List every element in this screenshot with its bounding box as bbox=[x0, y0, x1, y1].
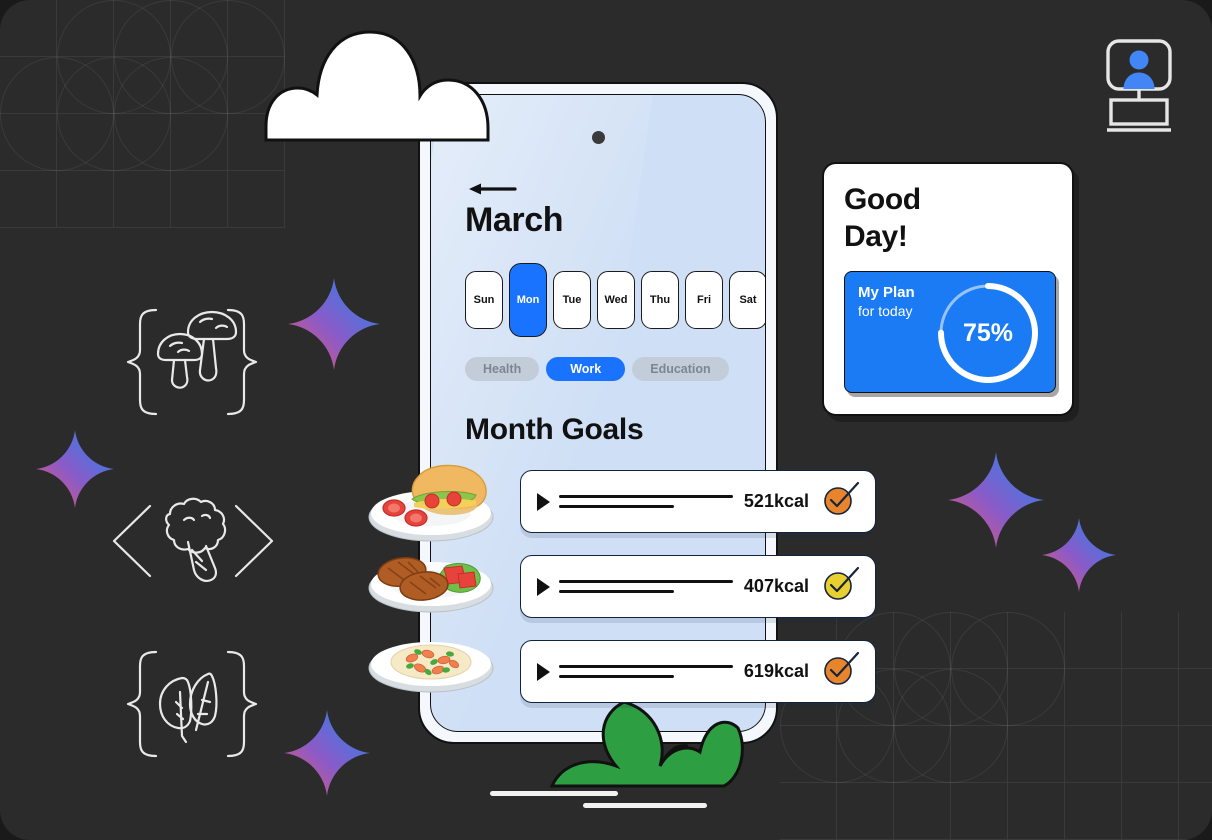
calorie-value: 407kcal bbox=[744, 576, 809, 597]
category-tabs[interactable]: HealthWorkEducation bbox=[465, 357, 729, 381]
grid-cell bbox=[951, 669, 1008, 726]
play-triangle-icon[interactable] bbox=[537, 578, 550, 596]
day-chip-label: Fri bbox=[697, 294, 711, 306]
grid-cell bbox=[1122, 783, 1179, 840]
day-chip-wed[interactable]: Wed bbox=[597, 271, 635, 329]
grid-circle bbox=[114, 57, 228, 171]
meal-placeholder-bars bbox=[559, 580, 744, 592]
grid-circle bbox=[0, 57, 114, 171]
tab-health[interactable]: Health bbox=[465, 357, 539, 381]
grid-cell bbox=[837, 726, 894, 783]
grid-cell bbox=[57, 57, 114, 114]
deco-line bbox=[583, 803, 707, 808]
day-selector[interactable]: SunMonTueWedThuFriSat bbox=[465, 263, 766, 337]
sparkle-icon bbox=[284, 710, 370, 801]
table-row[interactable]: 619kcal bbox=[520, 640, 876, 703]
grid-cell bbox=[0, 171, 57, 228]
grid-cell bbox=[0, 0, 57, 57]
grid-circle bbox=[894, 669, 1008, 783]
poster-canvas: March SunMonTueWedThuFriSat HealthWorkEd… bbox=[0, 0, 1212, 840]
day-chip-sat[interactable]: Sat bbox=[729, 271, 766, 329]
section-title-month-goals: Month Goals bbox=[465, 413, 643, 447]
presentation-user-icon[interactable] bbox=[1105, 38, 1173, 139]
sparkle-icon bbox=[288, 278, 380, 375]
grid-cell bbox=[57, 171, 114, 228]
grid-cell bbox=[894, 726, 951, 783]
grid-cell bbox=[171, 114, 228, 171]
day-chip-label: Wed bbox=[604, 294, 627, 306]
grid-cell bbox=[894, 612, 951, 669]
grid-cell bbox=[1008, 726, 1065, 783]
tab-label: Health bbox=[483, 362, 521, 376]
grid-cell bbox=[1122, 612, 1179, 669]
grid-cell bbox=[0, 57, 57, 114]
plan-label: My Plan for today bbox=[858, 284, 915, 320]
plan-title: My Plan bbox=[858, 284, 915, 301]
good-day-card: Good Day! My Plan for today 75% bbox=[822, 162, 1074, 416]
mushrooms-icon bbox=[112, 292, 272, 437]
day-chip-label: Thu bbox=[650, 294, 670, 306]
grid-cell bbox=[780, 726, 837, 783]
leaf-bush-icon bbox=[548, 694, 748, 797]
grid-cell bbox=[1008, 612, 1065, 669]
play-triangle-icon[interactable] bbox=[537, 663, 550, 681]
day-chip-fri[interactable]: Fri bbox=[685, 271, 723, 329]
tab-work[interactable]: Work bbox=[546, 357, 625, 381]
spinach-leaves-icon bbox=[112, 634, 272, 779]
grid-cell bbox=[1179, 783, 1212, 840]
grid-cell bbox=[1065, 612, 1122, 669]
steak-plate-icon bbox=[366, 540, 496, 625]
grid-cell bbox=[228, 171, 285, 228]
sparkle-icon bbox=[1042, 518, 1116, 597]
sparkle-icon bbox=[948, 452, 1044, 553]
grid-cell bbox=[951, 612, 1008, 669]
tab-label: Work bbox=[570, 362, 601, 376]
month-goals-list: 521kcal407kcal619kcal bbox=[520, 470, 876, 703]
sandwich-plate-icon bbox=[366, 455, 496, 550]
grid-cell bbox=[837, 783, 894, 840]
grid-cell bbox=[114, 171, 171, 228]
grid-cell bbox=[114, 57, 171, 114]
grid-circle bbox=[57, 57, 171, 171]
grid-cell bbox=[171, 171, 228, 228]
day-chip-label: Sun bbox=[474, 294, 495, 306]
greeting-title: Good Day! bbox=[844, 182, 1052, 255]
broccoli-icon bbox=[108, 486, 278, 601]
grid-cell bbox=[1065, 783, 1122, 840]
grid-circle bbox=[951, 612, 1065, 726]
placeholder-bar bbox=[559, 505, 674, 508]
grid-cell bbox=[171, 57, 228, 114]
tab-education[interactable]: Education bbox=[632, 357, 728, 381]
meal-placeholder-bars bbox=[559, 665, 744, 677]
placeholder-bar bbox=[559, 665, 733, 668]
check-circle-icon[interactable] bbox=[821, 649, 861, 694]
day-chip-label: Sat bbox=[739, 294, 756, 306]
grid-circle bbox=[114, 0, 228, 114]
grid-cell bbox=[894, 669, 951, 726]
progress-percent-label: 75% bbox=[933, 278, 1043, 388]
grid-cell bbox=[780, 783, 837, 840]
calorie-value: 619kcal bbox=[744, 661, 809, 682]
placeholder-bar bbox=[559, 580, 733, 583]
check-circle-icon[interactable] bbox=[821, 479, 861, 524]
grid-cell bbox=[1179, 612, 1212, 669]
play-triangle-icon[interactable] bbox=[537, 493, 550, 511]
grid-cell bbox=[951, 726, 1008, 783]
day-chip-thu[interactable]: Thu bbox=[641, 271, 679, 329]
pasta-plate-icon bbox=[366, 620, 496, 705]
grid-cell bbox=[114, 0, 171, 57]
grid-circle bbox=[894, 612, 1008, 726]
grid-cell bbox=[1179, 726, 1212, 783]
grid-cell bbox=[951, 783, 1008, 840]
plan-subtitle: for today bbox=[858, 303, 915, 321]
grid-cell bbox=[1065, 669, 1122, 726]
tab-label: Education bbox=[650, 362, 710, 376]
placeholder-bar bbox=[559, 590, 674, 593]
placeholder-bar bbox=[559, 495, 733, 498]
day-chip-label: Tue bbox=[563, 294, 582, 306]
cloud-shape-icon bbox=[262, 22, 492, 147]
meal-placeholder-bars bbox=[559, 495, 744, 507]
page-title: March bbox=[465, 201, 563, 240]
grid-cell bbox=[1122, 669, 1179, 726]
grid-cell bbox=[171, 0, 228, 57]
day-chip-mon[interactable]: Mon bbox=[509, 263, 547, 337]
my-plan-panel[interactable]: My Plan for today 75% bbox=[844, 271, 1056, 393]
sparkle-icon bbox=[36, 430, 114, 513]
grid-cell bbox=[1008, 669, 1065, 726]
grid-cell bbox=[1065, 726, 1122, 783]
day-chip-sun[interactable]: Sun bbox=[465, 271, 503, 329]
grid-cell bbox=[894, 783, 951, 840]
calorie-value: 521kcal bbox=[744, 491, 809, 512]
grid-cell bbox=[1008, 783, 1065, 840]
grid-cell bbox=[0, 114, 57, 171]
grid-cell bbox=[1179, 669, 1212, 726]
day-chip-label: Mon bbox=[517, 294, 540, 306]
table-row[interactable]: 521kcal bbox=[520, 470, 876, 533]
grid-cell bbox=[57, 114, 114, 171]
grid-cell bbox=[114, 114, 171, 171]
table-row[interactable]: 407kcal bbox=[520, 555, 876, 618]
grid-cell bbox=[1122, 726, 1179, 783]
day-chip-tue[interactable]: Tue bbox=[553, 271, 591, 329]
camera-dot-icon bbox=[592, 131, 605, 144]
grid-cell bbox=[57, 0, 114, 57]
check-circle-icon[interactable] bbox=[821, 564, 861, 609]
placeholder-bar bbox=[559, 675, 674, 678]
grid-circle bbox=[57, 0, 171, 114]
